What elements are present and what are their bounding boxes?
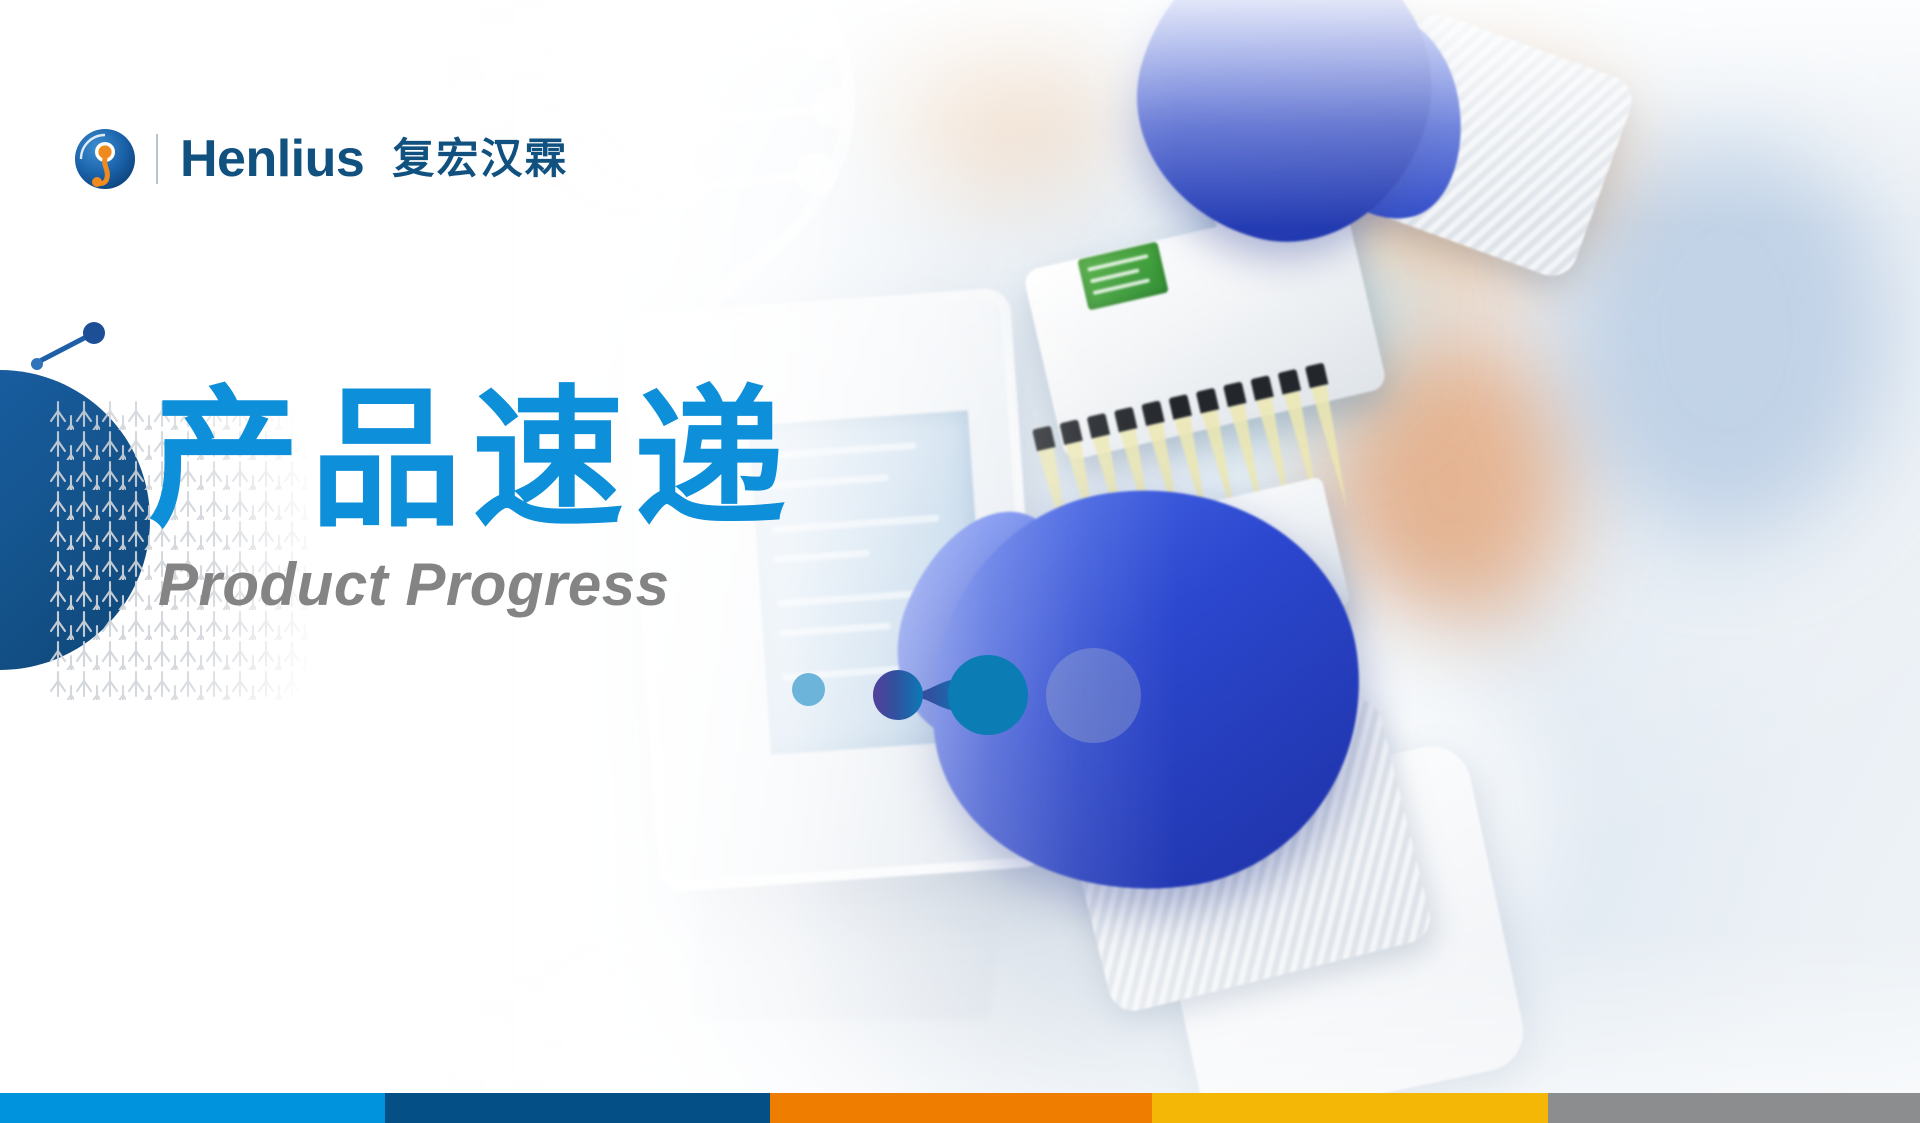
blue-dot-accent [792,673,825,706]
logo-brand-cn: 复宏汉霖 [392,138,568,180]
translucent-grey-circle [1046,648,1141,743]
cover-slide: Henlius 复宏汉霖 产品速递 Product Progress [0,0,1920,1123]
logo-divider [156,134,158,184]
segment-light-blue [0,1093,385,1123]
logo-brand-en: Henlius [180,133,364,185]
segment-amber [1152,1093,1548,1123]
headline-block: 产品速递 Product Progress [148,378,796,619]
photo-white-fade-bottom [0,923,1920,1093]
henlius-logo-mark [74,128,136,190]
henlius-logo[interactable]: Henlius 复宏汉霖 [74,126,568,192]
molecule-node-accent [30,322,126,372]
page-subtitle: Product Progress [158,550,796,619]
segment-dark-blue [385,1093,770,1123]
molecule-link-accent [860,648,1060,743]
brand-colour-bar [0,1093,1920,1123]
segment-orange [770,1093,1152,1123]
page-title: 产品速递 [148,378,796,542]
photo-white-fade-top [0,0,1920,230]
segment-grey [1548,1093,1920,1123]
